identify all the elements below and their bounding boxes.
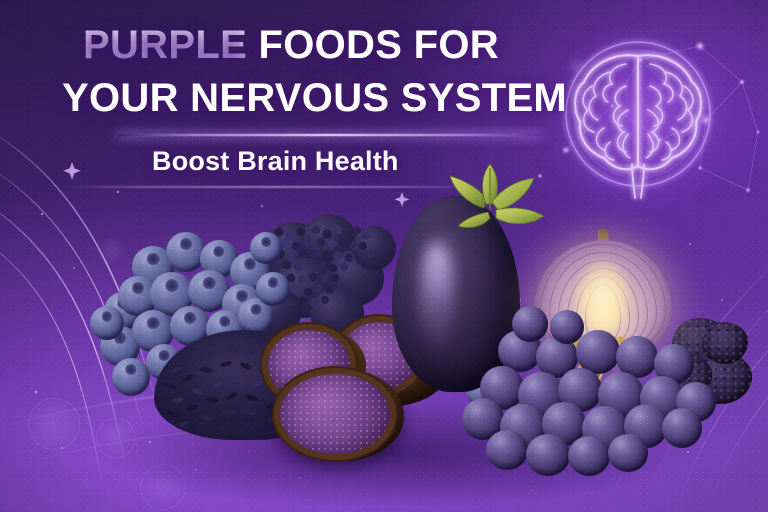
vignette (0, 0, 768, 512)
poster-canvas: PURPLE FOODS FOR YOUR NERVOUS SYSTEM Boo… (0, 0, 768, 512)
